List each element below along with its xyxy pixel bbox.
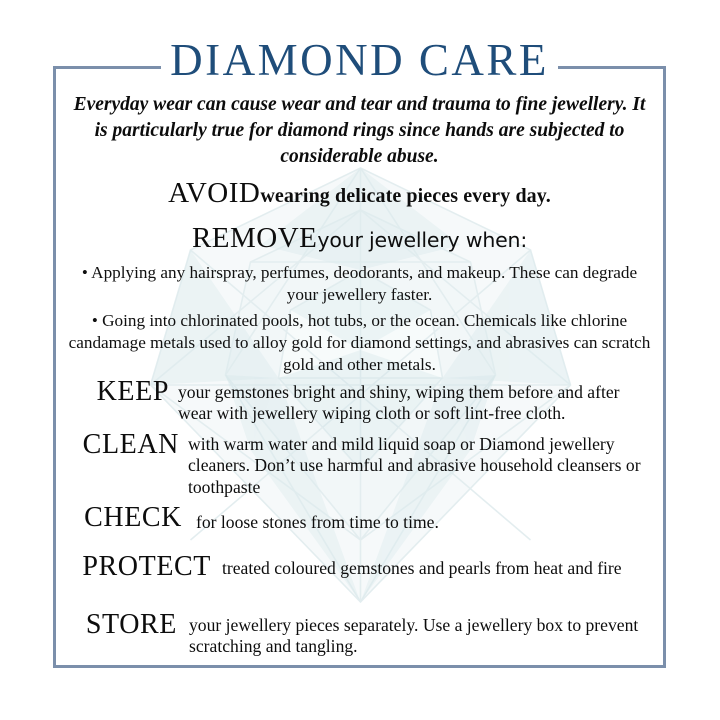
- bullet-text: Going into chlorinated pools, hot tubs, …: [69, 311, 651, 373]
- protect-text: treated coloured gemstones and pearls fr…: [211, 553, 666, 579]
- clean-text: with warm water and mild liquid soap or …: [179, 431, 666, 498]
- store-keyword: STORE: [53, 611, 177, 639]
- avoid-keyword: AVOID: [168, 177, 260, 209]
- care-step-check: CHECK for loose stones from time to time…: [53, 504, 666, 533]
- keep-text: your gemstones bright and shiny, wiping …: [169, 378, 666, 425]
- care-step-clean: CLEAN with warm water and mild liquid so…: [53, 431, 666, 498]
- clean-keyword: CLEAN: [53, 431, 179, 459]
- keep-keyword: KEEP: [53, 378, 169, 406]
- store-text: your jewellery pieces separately. Use a …: [177, 611, 666, 658]
- bullet-text: Applying any hairspray, perfumes, deodor…: [91, 263, 637, 304]
- list-item: • Going into chlorinated pools, hot tubs…: [53, 310, 666, 375]
- check-text: for loose stones from time to time.: [182, 504, 666, 533]
- protect-keyword: PROTECT: [53, 553, 211, 581]
- remove-line: REMOVEyour jewellery when:: [53, 222, 666, 255]
- care-step-keep: KEEP your gemstones bright and shiny, wi…: [53, 378, 666, 425]
- check-keyword: CHECK: [53, 504, 182, 532]
- care-step-store: STORE your jewellery pieces separately. …: [53, 611, 666, 658]
- avoid-line: AVOIDwearing delicate pieces every day.: [53, 177, 666, 210]
- remove-keyword: REMOVE: [192, 222, 317, 254]
- poster-content: DIAMOND CARE Everyday wear can cause wea…: [53, 0, 666, 720]
- remove-bullet-list: • Applying any hairspray, perfumes, deod…: [53, 262, 666, 380]
- bullet-marker: •: [92, 311, 98, 330]
- diamond-care-poster: DIAMOND CARE Everyday wear can cause wea…: [0, 0, 720, 720]
- avoid-text: wearing delicate pieces every day.: [260, 185, 551, 207]
- page-title: DIAMOND CARE: [53, 38, 666, 83]
- remove-text: your jewellery when:: [317, 228, 527, 252]
- bullet-marker: •: [82, 263, 88, 282]
- list-item: • Applying any hairspray, perfumes, deod…: [53, 262, 666, 305]
- intro-paragraph: Everyday wear can cause wear and tear an…: [65, 92, 654, 170]
- care-step-protect: PROTECT treated coloured gemstones and p…: [53, 553, 666, 581]
